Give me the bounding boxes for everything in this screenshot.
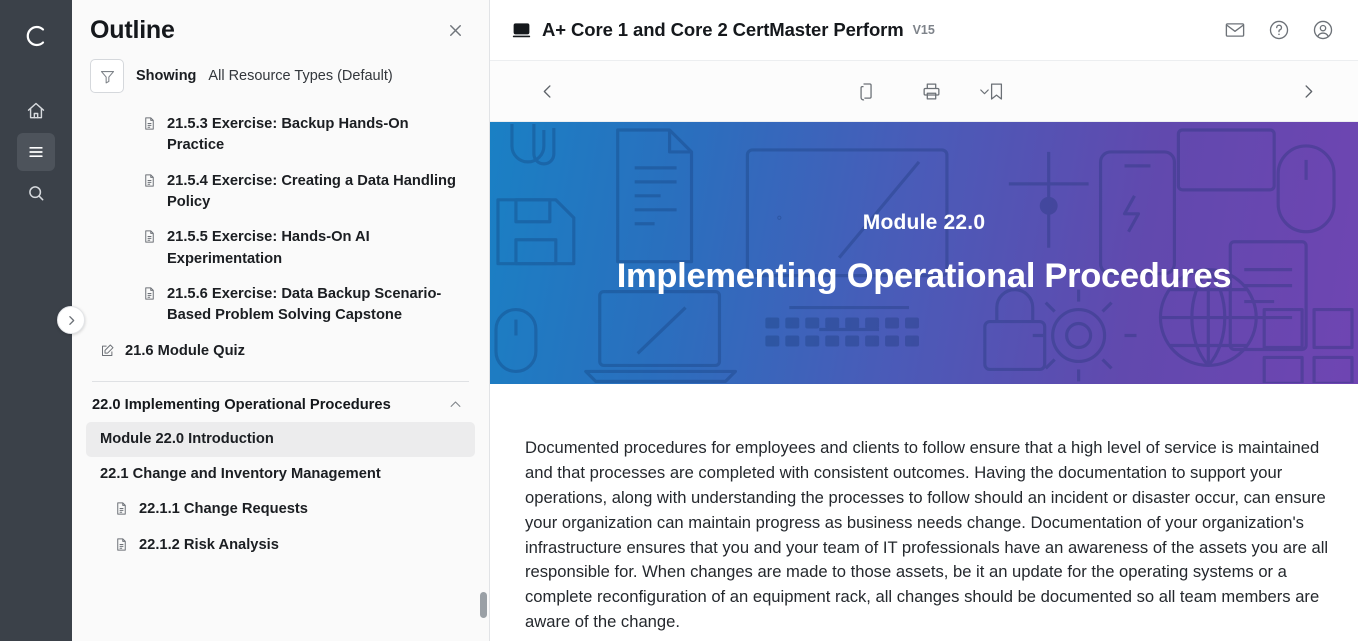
mail-icon[interactable] [1224,19,1246,41]
version-badge: V15 [913,23,935,37]
hero-module-label: Module 22.0 [863,211,985,235]
expand-panel-button[interactable] [57,306,85,334]
chevron-up-icon[interactable] [448,397,463,412]
user-account-icon[interactable] [1312,19,1334,41]
outline-scrollbar-thumb[interactable] [480,592,487,618]
course-header: A+ Core 1 and Core 2 CertMaster Perform … [490,0,1358,60]
sidebar-item-search[interactable] [17,174,55,212]
sidebar-item-home[interactable] [17,92,55,130]
main-content: A+ Core 1 and Core 2 CertMaster Perform … [490,0,1358,641]
list-item[interactable]: 22.1.1 Change Requests [86,492,475,527]
list-item-label: 21.6 Module Quiz [125,341,245,362]
document-icon [142,286,158,301]
filter-showing-label: Showing [136,68,196,84]
chevron-down-icon[interactable] [977,84,992,99]
hero-title: Implementing Operational Procedures [617,257,1231,296]
document-icon [142,229,158,244]
previous-page-button[interactable] [538,82,557,101]
document-icon [114,501,130,516]
filter-icon[interactable] [90,59,124,93]
left-rail [0,0,72,641]
outline-section-title: 22.0 Implementing Operational Procedures [92,397,391,413]
course-book-icon [512,21,531,40]
brand-logo-icon[interactable] [18,18,54,54]
filter-value[interactable]: All Resource Types (Default) [208,68,392,84]
app-root: Outline Showing All Resource Types (Defa… [0,0,1358,641]
sidebar-item-outline[interactable] [17,133,55,171]
list-item-label: 21.5.6 Exercise: Data Backup Scenario-Ba… [167,284,467,327]
content-body: Documented procedures for employees and … [490,384,1358,641]
hero-pattern-icon [490,122,1358,383]
page-title: A+ Core 1 and Core 2 CertMaster Perform [542,19,904,41]
list-item[interactable]: 21.5.5 Exercise: Hands-On AI Experimenta… [86,220,475,277]
document-icon [142,116,158,131]
filter-row: Showing All Resource Types (Default) [72,51,489,107]
list-item-label: 22.1 Change and Inventory Management [100,464,381,485]
copy-icon[interactable] [856,81,877,102]
document-icon [142,173,158,188]
next-page-button[interactable] [1299,82,1318,101]
outline-title: Outline [90,16,175,45]
list-item-label: 21.5.5 Exercise: Hands-On AI Experimenta… [167,227,467,270]
content-paragraph: Documented procedures for employees and … [525,436,1330,635]
list-item-module-introduction[interactable]: Module 22.0 Introduction [86,422,475,457]
list-item-label: 22.1.1 Change Requests [139,499,308,520]
close-icon[interactable] [443,19,467,43]
quiz-pencil-icon [100,343,116,358]
header-actions [1224,19,1334,41]
section-divider [92,381,469,382]
list-item-label: Module 22.0 Introduction [100,429,274,450]
outline-list[interactable]: 21.5.3 Exercise: Backup Hands-On Practic… [72,107,489,641]
outline-scrollbar[interactable] [480,120,487,641]
outline-header: Outline [72,0,489,51]
outline-panel: Outline Showing All Resource Types (Defa… [72,0,490,641]
list-item-label: 21.5.4 Exercise: Creating a Data Handlin… [167,171,467,214]
list-item[interactable]: 21.5.4 Exercise: Creating a Data Handlin… [86,164,475,221]
list-item[interactable]: 22.1 Change and Inventory Management [86,457,475,492]
list-item-label: 21.5.3 Exercise: Backup Hands-On Practic… [167,114,467,157]
outline-section-header[interactable]: 22.0 Implementing Operational Procedures [86,388,475,422]
module-hero-banner: Module 22.0 Implementing Operational Pro… [490,122,1358,384]
page-toolbar [490,60,1358,122]
print-icon[interactable] [921,81,942,102]
document-icon [114,537,130,552]
list-item[interactable]: 22.1.2 Risk Analysis [86,528,475,563]
help-circle-icon[interactable] [1268,19,1290,41]
list-item[interactable]: 21.5.6 Exercise: Data Backup Scenario-Ba… [86,277,475,334]
list-item[interactable]: 21.5.3 Exercise: Backup Hands-On Practic… [86,107,475,164]
list-item-label: 22.1.2 Risk Analysis [139,535,279,556]
list-item-module-quiz[interactable]: 21.6 Module Quiz [86,334,475,369]
